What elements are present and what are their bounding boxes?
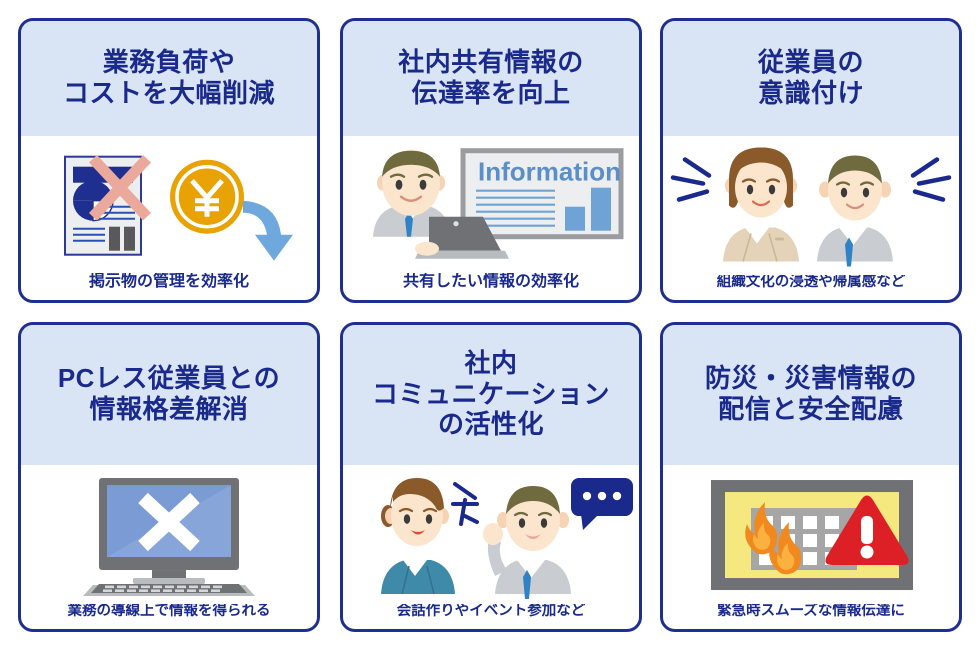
emphasis-lines-icon [913,160,949,200]
card-illustration-area [343,465,639,604]
sparkle-icon [453,484,477,524]
card-pcless-employees: PCレス従業員との 情報格差解消 [18,322,320,632]
card-title-line-1: 業務負荷や [63,47,275,78]
card-title-line-2: コミュニケーション [372,379,610,410]
woman-avatar-icon [723,148,799,262]
yen-coin-icon [170,160,244,234]
card-illustration-area [21,136,317,273]
card-title: 社内共有情報の 伝達率を向上 [343,21,639,136]
card-title-line-2: コストを大幅削減 [63,78,275,109]
card-caption: 業務の導線上で情報を得られる [21,604,317,629]
card-title: 防災・災害情報の 配信と安全配慮 [663,325,959,465]
man-avatar-icon [483,486,571,599]
card-information-sharing: 社内共有情報の 伝達率を向上 Information [340,18,642,303]
speech-bubble-icon [571,478,633,530]
man-avatar-icon [817,156,893,267]
card-illustration-area [663,465,959,604]
monitor-icon [99,478,239,584]
document-cross-yen-illustration [21,136,317,273]
card-title: 従業員の 意識付け [663,21,959,136]
benefits-grid: 業務負荷や コストを大幅削減 [0,0,980,653]
colleagues-talking-illustration [343,465,639,604]
laptop-person-information-board-illustration: Information [343,136,639,273]
card-caption: 緊急時スムーズな情報伝達に [663,604,959,629]
board-label: Information [478,157,621,187]
card-title-line-2: 伝達率を向上 [398,78,584,109]
card-title-line-2: 配信と安全配慮 [705,394,917,425]
card-title-line-1: 防災・災害情報の [705,363,917,394]
card-title-line-2: 意識付け [758,78,864,109]
card-caption: 共有したい情報の効率化 [343,273,639,300]
keyboard-icon [83,584,255,596]
woman-avatar-icon [381,478,455,594]
card-title-line-1: PCレス従業員との [58,363,280,394]
card-title: PCレス従業員との 情報格差解消 [21,325,317,465]
card-illustration-area [663,136,959,275]
card-title-line-1: 社内 [372,348,610,379]
card-title-line-2: 情報格差解消 [58,394,280,425]
card-caption: 組織文化の浸透や帰属感など [663,275,959,300]
card-caption: 会話作りやイベント参加など [343,604,639,629]
card-title-line-1: 従業員の [758,47,864,78]
card-internal-communication: 社内 コミュニケーション の活性化 [340,322,642,632]
burning-building-warning-illustration [663,465,959,604]
card-title-line-3: の活性化 [372,409,610,440]
card-illustration-area [21,465,317,604]
card-title: 社内 コミュニケーション の活性化 [343,325,639,465]
card-illustration-area: Information [343,136,639,273]
card-title-line-1: 社内共有情報の [398,47,584,78]
card-employee-awareness: 従業員の 意識付け [660,18,962,303]
down-arrow-icon [243,201,293,261]
card-title: 業務負荷や コストを大幅削減 [21,21,317,136]
card-workload-cost: 業務負荷や コストを大幅削減 [18,18,320,303]
monitor-x-illustration [21,465,317,604]
card-disaster-info: 防災・災害情報の 配信と安全配慮 [660,322,962,632]
card-caption: 掲示物の管理を効率化 [21,273,317,300]
emphasis-lines-icon [673,160,709,200]
two-employees-illustration [663,136,959,275]
